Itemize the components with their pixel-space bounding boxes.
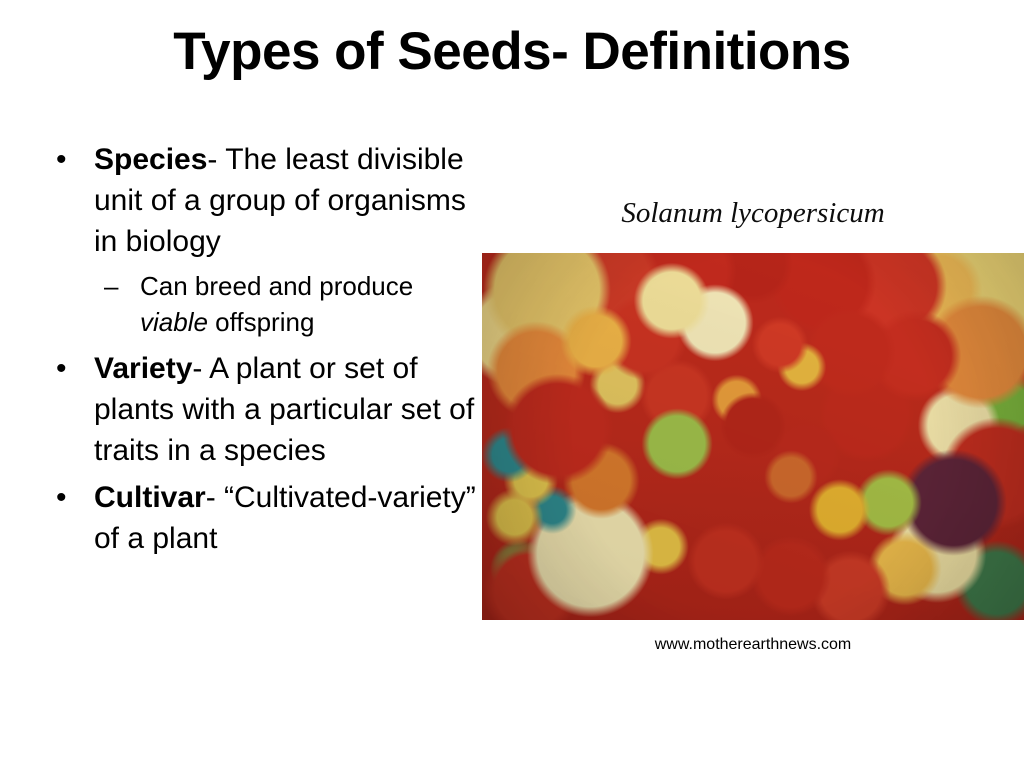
sub-text-emphasis: viable xyxy=(140,307,208,337)
photo-layer-shading xyxy=(482,253,1024,620)
bullet-marker-icon: • xyxy=(56,139,67,180)
tomato-photo xyxy=(482,253,1024,620)
list-item: •Species- The least divisible unit of a … xyxy=(44,139,488,262)
page-title: Types of Seeds- Definitions xyxy=(0,22,1024,82)
figure-caption: Solanum lycopersicum xyxy=(482,196,1024,230)
definitions-list: •Species- The least divisible unit of a … xyxy=(44,139,488,565)
sub-text-after: offspring xyxy=(208,307,314,337)
photo-credit: www.motherearthnews.com xyxy=(482,635,1024,655)
bullet-marker-icon: • xyxy=(56,348,67,389)
definition-term: Cultivar xyxy=(94,481,206,514)
definition-term: Species xyxy=(94,143,207,176)
dash-marker-icon: – xyxy=(104,268,118,304)
sub-text-before: Can breed and produce xyxy=(140,271,413,301)
list-item: •Variety- A plant or set of plants with … xyxy=(44,348,488,471)
definition-term: Variety xyxy=(94,352,192,385)
sub-list-item: –Can breed and produce viable offspring xyxy=(44,268,488,340)
list-item: •Cultivar- “Cultivated-variety” of a pla… xyxy=(44,477,488,559)
bullet-marker-icon: • xyxy=(56,477,67,518)
